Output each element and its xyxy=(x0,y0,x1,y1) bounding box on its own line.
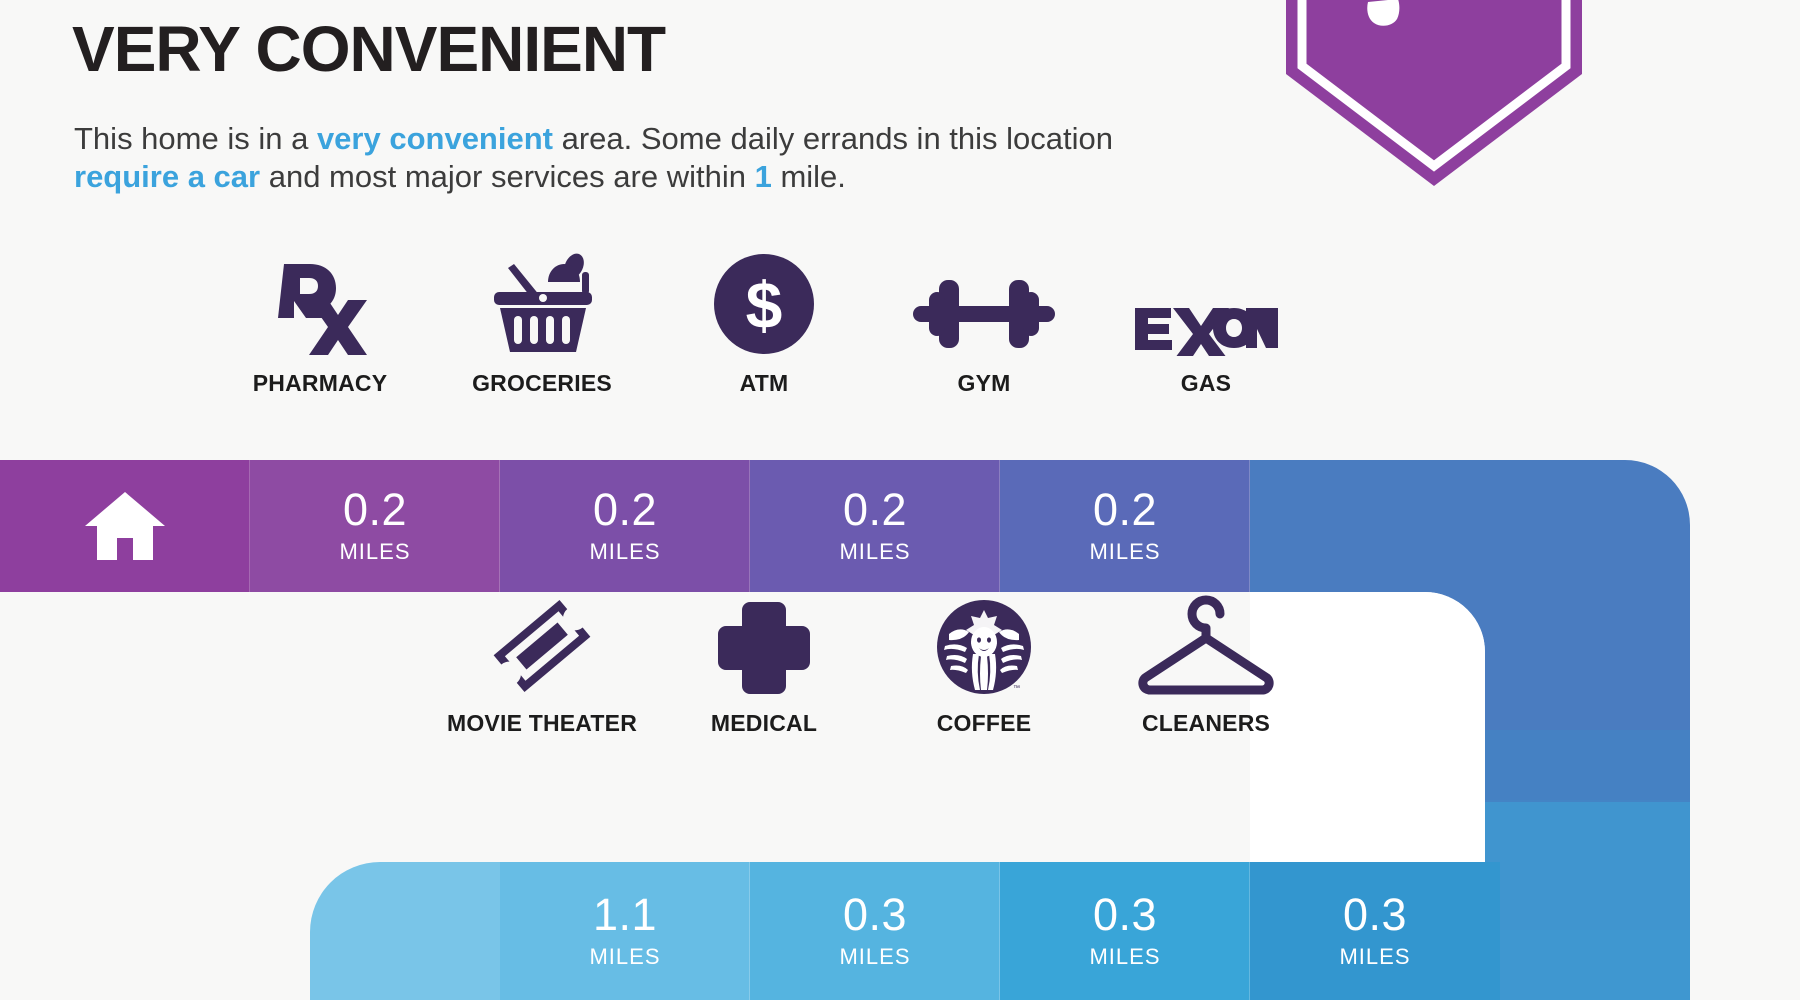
icon-cell-coffee: ™ COFFEE xyxy=(858,588,1110,737)
distance-segment-atm: 0.2 MILES xyxy=(750,460,1000,592)
icon-cell-pharmacy: PHARMACY xyxy=(194,248,446,397)
icon-cell-groceries: GROCERIES xyxy=(416,248,668,397)
distance-bar-row-2-lead xyxy=(310,862,500,1000)
distance-bar-row-2: 1.1 MILES 0.3 MILES 0.3 MILES 0.3 MILES xyxy=(310,862,1500,1000)
distance-value-movie-theater: 1.1 xyxy=(593,892,657,937)
description-segment-6: mile. xyxy=(772,159,846,194)
distance-segment-cleaners: 0.3 MILES xyxy=(1250,862,1500,1000)
description-highlight-very-convenient: very convenient xyxy=(317,121,553,156)
distance-value-gym: 0.2 xyxy=(1093,487,1157,532)
distance-segment-movie-theater: 1.1 MILES xyxy=(500,862,750,1000)
description-highlight-one: 1 xyxy=(755,159,772,194)
distance-unit-coffee: MILES xyxy=(1089,944,1160,970)
distance-segment-groceries: 0.2 MILES xyxy=(500,460,750,592)
icon-label-gas: GAS xyxy=(1181,370,1231,397)
description-text: This home is in a very convenient area. … xyxy=(74,120,1194,197)
shield-icon xyxy=(1284,0,1584,188)
page-title: VERY CONVENIENT xyxy=(72,16,665,83)
distance-unit-cleaners: MILES xyxy=(1339,944,1410,970)
rx-icon xyxy=(270,248,370,356)
icon-label-coffee: COFFEE xyxy=(937,710,1031,737)
distance-unit-gym: MILES xyxy=(1089,539,1160,565)
distance-value-atm: 0.2 xyxy=(843,487,907,532)
clothes-hanger-icon xyxy=(1131,588,1281,696)
distance-unit-groceries: MILES xyxy=(589,539,660,565)
exxon-logo-icon xyxy=(1133,248,1279,356)
home-icon xyxy=(83,490,167,562)
distance-unit-movie-theater: MILES xyxy=(589,944,660,970)
home-marker xyxy=(0,460,250,592)
icon-cell-atm: $ ATM xyxy=(638,248,890,397)
icon-cell-movie-theater: MOVIE THEATER xyxy=(416,588,668,737)
movie-ticket-icon xyxy=(489,588,595,696)
icon-cell-cleaners: CLEANERS xyxy=(1080,588,1332,737)
distance-segment-coffee: 0.3 MILES xyxy=(1000,862,1250,1000)
distance-value-cleaners: 0.3 xyxy=(1343,892,1407,937)
starbucks-logo-icon: ™ xyxy=(935,588,1033,696)
distance-value-pharmacy: 0.2 xyxy=(343,487,407,532)
distance-value-medical: 0.3 xyxy=(843,892,907,937)
distance-unit-medical: MILES xyxy=(839,944,910,970)
walk-score-badge xyxy=(1284,0,1584,188)
icon-label-groceries: GROCERIES xyxy=(472,370,612,397)
distance-segment-gym: 0.2 MILES xyxy=(1000,460,1250,592)
distance-segment-pharmacy: 0.2 MILES xyxy=(250,460,500,592)
distance-value-coffee: 0.3 xyxy=(1093,892,1157,937)
icon-label-gym: GYM xyxy=(958,370,1011,397)
distance-unit-pharmacy: MILES xyxy=(339,539,410,565)
icon-cell-medical: MEDICAL xyxy=(638,588,890,737)
icon-label-medical: MEDICAL xyxy=(711,710,817,737)
icon-cell-gas: GAS xyxy=(1080,248,1332,397)
distance-segment-medical: 0.3 MILES xyxy=(750,862,1000,1000)
description-highlight-require-a-car: require a car xyxy=(74,159,260,194)
distance-unit-atm: MILES xyxy=(839,539,910,565)
description-segment-0: This home is in a xyxy=(74,121,317,156)
icon-label-movie-theater: MOVIE THEATER xyxy=(447,710,637,737)
description-segment-4: and most major services are within xyxy=(260,159,754,194)
walkability-infographic: VERY CONVENIENT This home is in a very c… xyxy=(0,0,1800,1000)
grocery-basket-icon xyxy=(486,248,598,356)
dollar-circle-icon: $ xyxy=(712,248,816,356)
icon-label-pharmacy: PHARMACY xyxy=(253,370,388,397)
medical-cross-icon xyxy=(716,588,812,696)
icon-cell-gym: GYM xyxy=(858,248,1110,397)
icon-label-atm: ATM xyxy=(740,370,789,397)
icon-label-cleaners: CLEANERS xyxy=(1142,710,1270,737)
distance-value-groceries: 0.2 xyxy=(593,487,657,532)
description-segment-2: area. Some daily errands in this locatio… xyxy=(553,121,1113,156)
svg-text:™: ™ xyxy=(1013,685,1020,692)
dumbbell-icon xyxy=(913,248,1055,356)
svg-text:$: $ xyxy=(746,268,783,342)
